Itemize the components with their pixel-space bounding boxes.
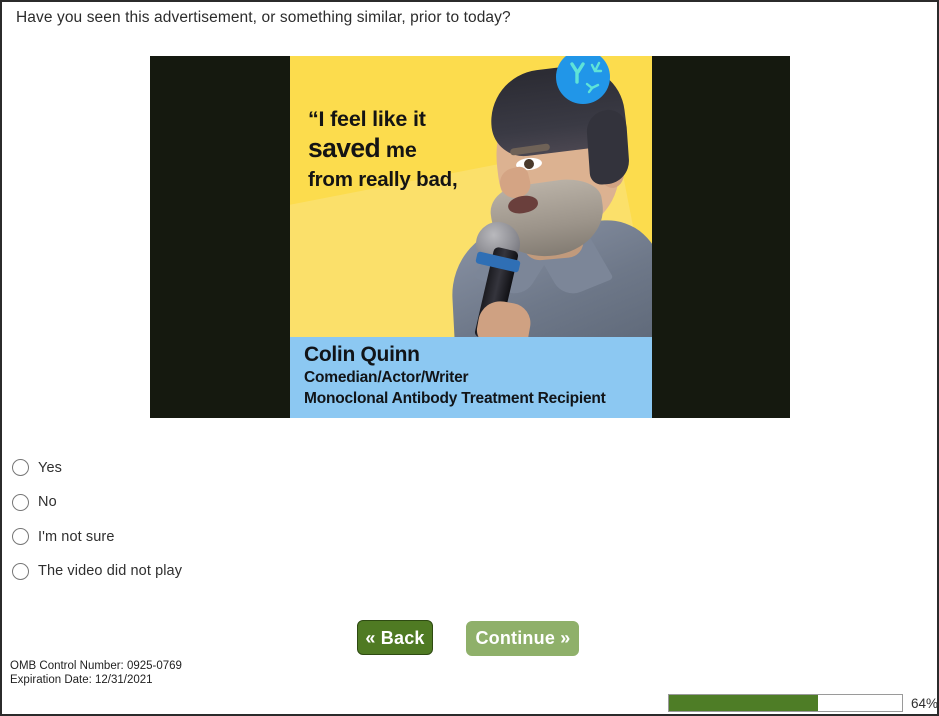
radio-button-video-did-not-play[interactable] bbox=[12, 563, 29, 580]
person-role: Comedian/Actor/Writer bbox=[304, 369, 468, 387]
ad-caption-bar: Colin Quinn Comedian/Actor/Writer Monocl… bbox=[290, 337, 652, 418]
quote-line-2-rest: me bbox=[380, 138, 416, 162]
back-button[interactable]: « Back bbox=[357, 620, 433, 655]
continue-button[interactable]: Continue » bbox=[466, 621, 579, 656]
radio-button-yes[interactable] bbox=[12, 459, 29, 476]
answer-options: Yes No I'm not sure The video did not pl… bbox=[12, 454, 412, 592]
progress-bar bbox=[668, 694, 903, 712]
person-name: Colin Quinn bbox=[304, 343, 420, 367]
ad-content: “I feel like it saved me from really bad… bbox=[290, 56, 652, 418]
advertisement-video[interactable]: “I feel like it saved me from really bad… bbox=[150, 56, 790, 418]
quote-line-2: saved me bbox=[308, 134, 457, 164]
quote-line-3: from really bad, bbox=[308, 166, 457, 193]
question-text: Have you seen this advertisement, or som… bbox=[16, 7, 511, 29]
option-label-not-sure: I'm not sure bbox=[38, 529, 115, 545]
antibody-logo-icon bbox=[556, 56, 610, 104]
option-row-no[interactable]: No bbox=[12, 489, 412, 516]
survey-page: Have you seen this advertisement, or som… bbox=[2, 2, 937, 714]
progress-area: 64% bbox=[668, 694, 937, 712]
option-label-no: No bbox=[38, 494, 57, 510]
omb-footer: OMB Control Number: 0925-0769 Expiration… bbox=[10, 659, 182, 687]
quote-line-1: “I feel like it bbox=[308, 106, 457, 133]
option-label-video-did-not-play: The video did not play bbox=[38, 563, 182, 579]
navigation-buttons: « Back Continue » bbox=[357, 620, 579, 656]
omb-expiration-date: Expiration Date: 12/31/2021 bbox=[10, 673, 182, 687]
option-row-yes[interactable]: Yes bbox=[12, 454, 412, 481]
spokesperson-photo bbox=[448, 56, 652, 337]
progress-bar-fill bbox=[669, 695, 818, 711]
ad-quote: “I feel like it saved me from really bad… bbox=[308, 106, 457, 193]
omb-control-number: OMB Control Number: 0925-0769 bbox=[10, 659, 182, 673]
person-subtitle: Monoclonal Antibody Treatment Recipient bbox=[304, 390, 606, 408]
radio-button-no[interactable] bbox=[12, 494, 29, 511]
radio-button-not-sure[interactable] bbox=[12, 528, 29, 545]
option-row-not-sure[interactable]: I'm not sure bbox=[12, 523, 412, 550]
hair-side bbox=[585, 109, 630, 186]
option-row-video-did-not-play[interactable]: The video did not play bbox=[12, 558, 412, 585]
quote-emphasis: saved bbox=[308, 133, 380, 163]
progress-percent-label: 64% bbox=[911, 696, 937, 711]
option-label-yes: Yes bbox=[38, 460, 62, 476]
